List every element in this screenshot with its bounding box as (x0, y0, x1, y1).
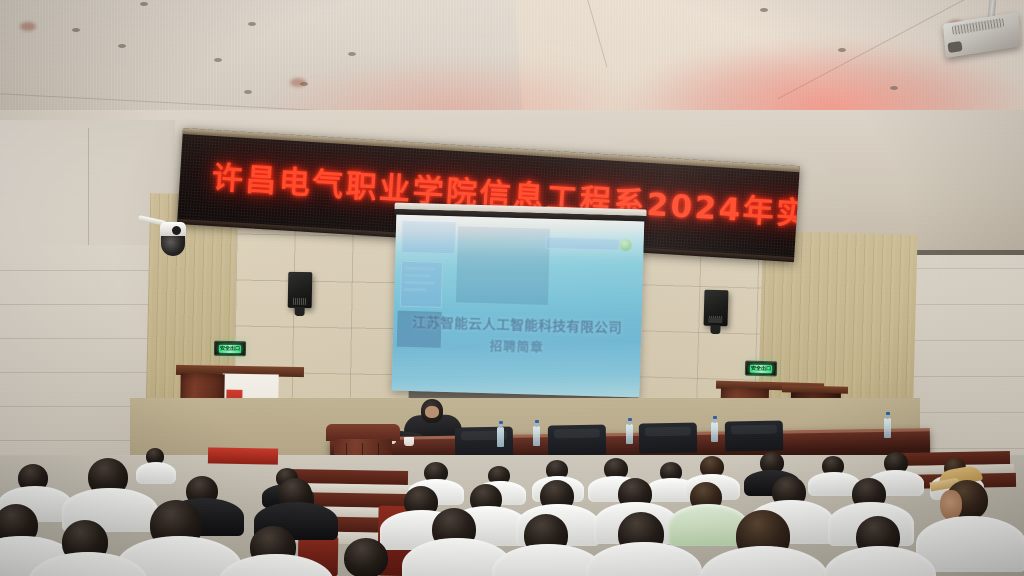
audience-head (344, 538, 388, 576)
speaker-bracket (295, 307, 305, 316)
sprinkler-head (838, 48, 846, 52)
wall-speaker-left (288, 272, 313, 308)
sprinkler-head (348, 52, 356, 56)
auditorium-photo: 许昌电气职业学院信息工程系2024年实习企业宣讲会 安全出口 安全出口 (0, 0, 1024, 576)
screen-glare (391, 215, 644, 398)
exit-sign-left: 安全出口 (214, 341, 246, 357)
sprinkler-head (118, 44, 126, 48)
sprinkler-head (248, 22, 256, 26)
audience-shoulders (700, 546, 828, 576)
bottle-cap (499, 421, 503, 424)
sprinkler-head (72, 28, 80, 32)
ceiling-stain (20, 22, 36, 31)
audience (0, 442, 1024, 576)
audience-shoulders (136, 462, 176, 484)
camera-lens-icon (172, 226, 181, 235)
speaker-bracket (710, 325, 720, 334)
presenter-face (425, 406, 439, 418)
sprinkler-head (244, 90, 252, 94)
bottle-cap (886, 412, 890, 415)
projection-screen: 江苏智能云人工智能科技有限公司 招聘简章 (391, 215, 644, 398)
water-bottle (711, 422, 718, 442)
audience-face (940, 490, 962, 520)
ceiling-stain (290, 78, 306, 87)
exit-sign-left-label: 安全出口 (219, 344, 241, 352)
exit-sign-right-label: 安全出口 (750, 364, 772, 373)
bottle-cap (713, 416, 717, 419)
wall-speaker-right (704, 290, 729, 327)
water-bottle (884, 418, 891, 438)
audience-shoulders (586, 542, 702, 576)
speaker-grille (709, 316, 723, 323)
sprinkler-head (890, 86, 898, 90)
speaker-grille (293, 298, 307, 305)
bottle-cap (628, 418, 632, 421)
sprinkler-head (760, 8, 768, 12)
projection-screen-assembly: 江苏智能云人工智能科技有限公司 招聘简章 (391, 203, 644, 400)
sprinkler-head (140, 2, 148, 6)
water-bottle (626, 424, 633, 444)
bottle-cap (535, 420, 539, 423)
exit-sign-right: 安全出口 (745, 361, 777, 377)
sprinkler-head (214, 58, 222, 62)
